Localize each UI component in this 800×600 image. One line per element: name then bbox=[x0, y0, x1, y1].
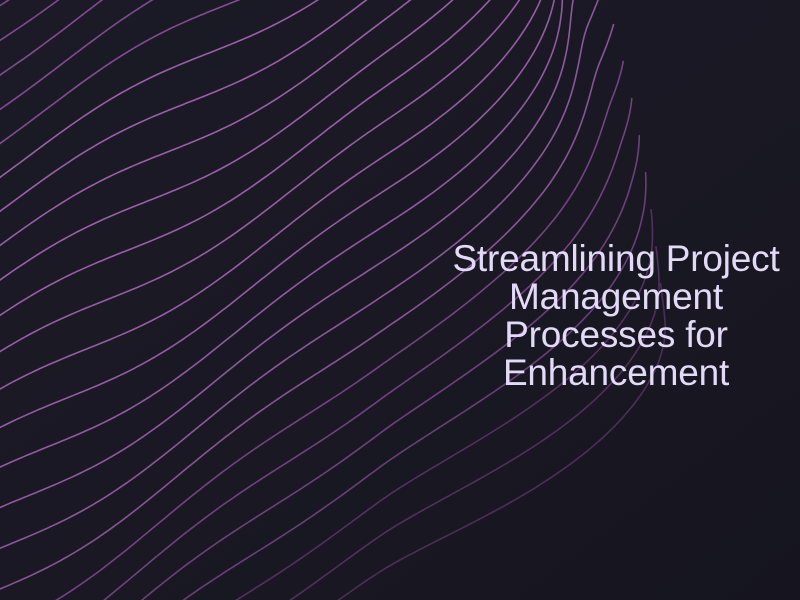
slide-canvas: Streamlining Project Management Processe… bbox=[0, 0, 800, 600]
page-title: Streamlining Project Management Processe… bbox=[416, 240, 800, 392]
slide-title-block: Streamlining Project Management Processe… bbox=[416, 240, 800, 392]
